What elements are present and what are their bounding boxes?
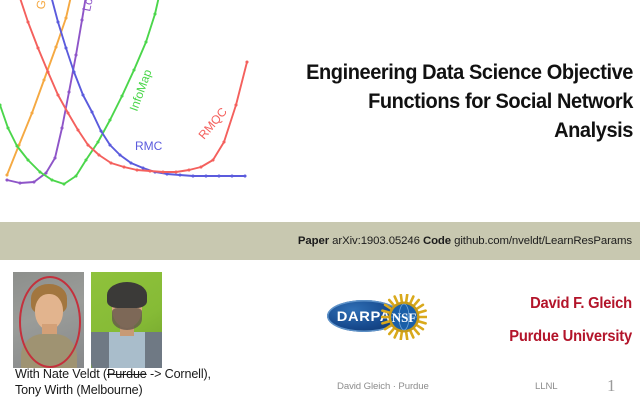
nsf-ray <box>389 328 394 334</box>
chart-marker-rmqc <box>109 161 112 164</box>
page-number: 1 <box>607 376 616 396</box>
reference-text: Paper arXiv:1903.05246 Code github.com/n… <box>298 235 640 247</box>
code-label: Code <box>423 235 451 247</box>
nsf-ray <box>410 330 413 337</box>
nsf-ray <box>406 331 407 339</box>
nsf-ray <box>395 330 398 337</box>
chart-marker-rmqc <box>187 168 190 171</box>
nsf-logo-text: NSF <box>392 310 417 325</box>
nsf-ray <box>395 297 398 304</box>
nsf-ray <box>401 331 402 339</box>
nsf-ray <box>382 321 390 323</box>
chart-marker-rmc <box>64 46 67 49</box>
chart-marker-infomap <box>15 144 18 147</box>
nsf-ray <box>389 300 394 306</box>
chart-marker-louvain <box>74 53 77 56</box>
chart-series-label-rmc: RMC <box>135 139 163 153</box>
chart-marker-rmqc <box>199 165 202 168</box>
nsf-ray <box>385 305 392 309</box>
chart-line-louvain <box>7 0 87 183</box>
chart-marker-rmqc <box>148 169 151 172</box>
slide: GraclusLouvainInfoMapRMCRMQC Engineering… <box>0 0 640 400</box>
portrait-hair <box>107 282 147 308</box>
chart-marker-infomap <box>62 182 65 185</box>
nsf-ray <box>413 300 418 306</box>
chart-marker-louvain <box>18 181 21 184</box>
chart-marker-infomap <box>74 174 77 177</box>
photo-nate-veldt <box>13 272 84 368</box>
chart-marker-louvain <box>44 171 47 174</box>
chart-marker-rmc <box>90 110 93 113</box>
chart-marker-rmc <box>129 161 132 164</box>
chart-marker-graclus <box>5 173 8 176</box>
paper-value: arXiv:1903.05246 <box>332 235 420 247</box>
chart-marker-infomap <box>132 68 135 71</box>
chart-marker-infomap <box>96 140 99 143</box>
chart-marker-rmqc <box>86 143 89 146</box>
nsf-ray <box>382 311 390 313</box>
chart-marker-rmqc <box>234 103 237 106</box>
photo-tony-wirth <box>91 272 162 368</box>
chart-marker-louvain <box>53 156 56 159</box>
page-title: Engineering Data Science Objective Funct… <box>258 58 633 145</box>
nsf-ray <box>410 297 413 304</box>
chart-marker-louvain <box>32 180 35 183</box>
chart-marker-infomap <box>108 118 111 121</box>
author-affiliation: Purdue University <box>431 327 632 347</box>
chart-marker-rmqc <box>135 168 138 171</box>
reference-band: Paper arXiv:1903.05246 Code github.com/n… <box>0 222 640 260</box>
author-name: David F. Gleich <box>431 294 632 314</box>
chart-marker-louvain <box>60 126 63 129</box>
chart-marker-rmqc <box>161 170 164 173</box>
chart-marker-rmc <box>99 129 102 132</box>
chart-marker-rmqc <box>56 93 59 96</box>
chart-marker-louvain <box>5 178 8 181</box>
author-block: David F. Gleich Purdue University <box>420 294 632 347</box>
chart-marker-rmc <box>230 174 233 177</box>
chart-marker-infomap <box>153 12 156 15</box>
chart-marker-rmc <box>118 153 121 156</box>
chart-marker-rmc <box>108 143 111 146</box>
teaser-line-chart: GraclusLouvainInfoMapRMCRMQC <box>0 0 265 200</box>
chart-line-graclus <box>7 0 72 175</box>
portrait-beard <box>112 308 142 330</box>
chart-marker-rmqc <box>174 170 177 173</box>
code-value[interactable]: github.com/nveldt/LearnResParams <box>454 235 632 247</box>
chart-series-label-louvain: Louvain <box>79 0 101 13</box>
chart-marker-rmqc <box>122 165 125 168</box>
chart-marker-louvain <box>67 90 70 93</box>
chart-marker-rmqc <box>245 60 248 63</box>
chart-marker-rmqc <box>222 140 225 143</box>
chart-marker-infomap <box>26 158 29 161</box>
footer-author: David Gleich · Purdue <box>337 381 429 392</box>
paper-label: Paper <box>298 235 329 247</box>
chart-marker-infomap <box>120 94 123 97</box>
chart-series-label-infomap: InfoMap <box>127 67 155 113</box>
chart-marker-infomap <box>6 126 9 129</box>
chart-marker-graclus <box>64 16 67 19</box>
chart-marker-rmc <box>191 174 194 177</box>
slide-footer: David Gleich · Purdue LLNL 1 <box>0 378 640 400</box>
chart-marker-infomap <box>50 178 53 181</box>
chart-marker-rmc <box>204 174 207 177</box>
chart-marker-infomap <box>84 158 87 161</box>
chart-marker-rmqc <box>97 153 100 156</box>
chart-marker-rmqc <box>26 20 29 23</box>
title-line-2: Functions for Social Network <box>284 87 633 116</box>
chart-marker-rmc <box>243 174 246 177</box>
chart-marker-graclus <box>42 78 45 81</box>
chart-marker-rmc <box>141 166 144 169</box>
chart-marker-rmqc <box>36 46 39 49</box>
chart-marker-rmqc <box>66 111 69 114</box>
chart-marker-louvain <box>80 18 83 21</box>
chart-svg: GraclusLouvainInfoMapRMCRMQC <box>0 0 265 200</box>
nsf-ray <box>401 295 402 303</box>
highlight-ellipse-annotation <box>19 276 81 368</box>
nsf-ray <box>413 328 418 334</box>
title-line-1: Engineering Data Science Objective <box>284 58 633 87</box>
chart-marker-graclus <box>54 45 57 48</box>
chart-marker-rmc <box>217 174 220 177</box>
chart-marker-rmqc <box>211 158 214 161</box>
chart-line-rmqc <box>18 0 247 172</box>
chart-marker-rmc <box>72 70 75 73</box>
chart-marker-rmc <box>56 20 59 23</box>
title-line-3: Analysis <box>284 116 633 145</box>
chart-marker-infomap <box>38 170 41 173</box>
portrait-shirt <box>109 332 145 368</box>
chart-marker-rmqc <box>76 128 79 131</box>
collaborator-photos <box>13 272 162 368</box>
chart-marker-rmqc <box>46 70 49 73</box>
chart-marker-rmc <box>81 93 84 96</box>
chart-marker-infomap <box>144 40 147 43</box>
nsf-ray <box>385 325 392 329</box>
chart-marker-graclus <box>30 111 33 114</box>
footer-venue: LLNL <box>535 381 558 392</box>
nsf-ray <box>406 295 407 303</box>
chart-marker-rmc <box>178 173 181 176</box>
